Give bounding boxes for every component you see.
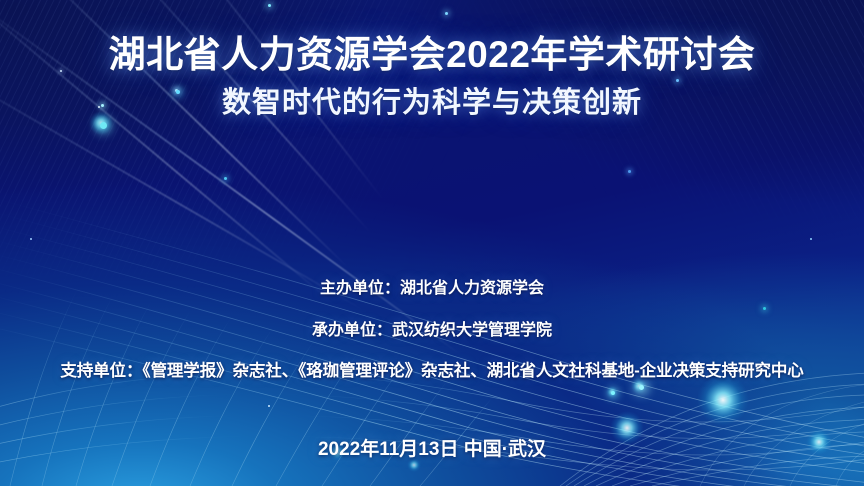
page-subtitle: 数智时代的行为科学与决策创新 (0, 84, 864, 122)
particle-dot (30, 238, 32, 240)
undertaker-organizer-line: 承办单位：武汉纺织大学管理学院 (0, 320, 864, 342)
conference-poster: 湖北省人力资源学会2022年学术研讨会 数智时代的行为科学与决策创新 主办单位：… (0, 0, 864, 486)
supporting-organizer-line: 支持单位：《管理学报》杂志社、《珞珈管理评论》杂志社、湖北省人文社科基地-企业决… (0, 360, 864, 382)
date-location-block: 2022年11月13日 中国·武汉 (0, 437, 864, 463)
organizer-block: 主办单位：湖北省人力资源学会 承办单位：武汉纺织大学管理学院 支持单位：《管理学… (0, 278, 864, 382)
particle-dot (100, 122, 107, 129)
particle-dot (810, 238, 812, 240)
particle-dot (611, 391, 615, 395)
page-title: 湖北省人力资源学会2022年学术研讨会 (0, 32, 864, 78)
particle-dot (445, 12, 448, 15)
particle-dot (268, 405, 270, 407)
particle-dot (639, 385, 644, 390)
particle-dot (628, 170, 631, 173)
date-location-text: 2022年11月13日 中国·武汉 (0, 437, 864, 463)
host-organizer-line: 主办单位：湖北省人力资源学会 (0, 278, 864, 300)
particle-dot (224, 177, 227, 180)
particle-dot (268, 4, 271, 7)
poster-title-block: 湖北省人力资源学会2022年学术研讨会 数智时代的行为科学与决策创新 (0, 32, 864, 122)
